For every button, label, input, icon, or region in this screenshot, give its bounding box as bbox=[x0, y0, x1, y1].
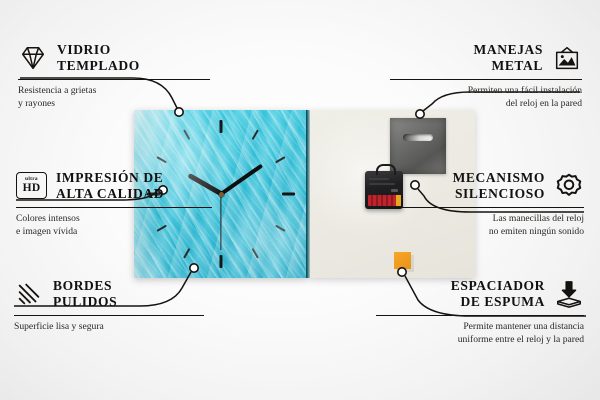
ultra-hd-icon: ultra HD bbox=[16, 172, 47, 199]
title-line-2: PULIDOS bbox=[53, 294, 117, 310]
clock-tick bbox=[183, 248, 190, 259]
movement-detail bbox=[369, 178, 389, 180]
feature-header: VIDRIO TEMPLADO bbox=[18, 42, 210, 74]
clock-tick bbox=[220, 255, 223, 268]
clock-tick bbox=[252, 129, 259, 140]
desc-line-2: y rayones bbox=[18, 98, 210, 111]
clock-minute-hand bbox=[220, 164, 263, 196]
hanger-slot bbox=[403, 134, 433, 141]
clock-tick bbox=[156, 156, 167, 163]
feature-title: IMPRESIÓN DE ALTA CALIDAD bbox=[56, 170, 164, 202]
title-line-2: METAL bbox=[474, 58, 543, 74]
hd-badge-large-text: HD bbox=[23, 183, 41, 195]
clock-tick bbox=[220, 120, 223, 133]
feature-divider bbox=[14, 315, 204, 316]
desc-line-2: uniforme entre el reloj y la pared bbox=[376, 334, 584, 347]
feature-manejas-metal: MANEJAS METAL Permiten una fácil instala… bbox=[390, 42, 582, 111]
title-line-1: VIDRIO bbox=[57, 42, 140, 58]
feature-divider bbox=[388, 207, 584, 208]
feature-description: Colores intensos e imagen vívida bbox=[16, 213, 212, 238]
feature-header: MANEJAS METAL bbox=[390, 42, 582, 74]
desc-line-1: Resistencia a grietas bbox=[18, 85, 210, 98]
feature-impresion-alta-calidad: ultra HD IMPRESIÓN DE ALTA CALIDAD Color… bbox=[16, 170, 212, 239]
feature-title: BORDES PULIDOS bbox=[53, 278, 117, 310]
feature-espaciador-espuma: ESPACIADOR DE ESPUMA Permite mantener un… bbox=[376, 278, 584, 347]
title-line-1: MANEJAS bbox=[474, 42, 543, 58]
feature-title: MANEJAS METAL bbox=[474, 42, 543, 74]
foam-spacer bbox=[394, 252, 411, 269]
feature-title: ESPACIADOR DE ESPUMA bbox=[451, 278, 545, 310]
desc-line-2: e imagen vívida bbox=[16, 226, 212, 239]
feature-vidrio-templado: VIDRIO TEMPLADO Resistencia a grietas y … bbox=[18, 42, 210, 111]
gear-icon bbox=[554, 171, 584, 201]
desc-line-1: Permiten una fácil instalación bbox=[390, 85, 582, 98]
polished-edges-icon bbox=[14, 279, 44, 309]
title-line-1: BORDES bbox=[53, 278, 117, 294]
feature-description: Las manecillas del reloj no emiten ningú… bbox=[388, 213, 584, 238]
feature-header: ESPACIADOR DE ESPUMA bbox=[376, 278, 584, 310]
feature-description: Resistencia a grietas y rayones bbox=[18, 85, 210, 110]
clock-second-hand bbox=[220, 194, 221, 250]
desc-line-1: Colores intensos bbox=[16, 213, 212, 226]
foam-spacer-icon bbox=[554, 279, 584, 309]
metal-hanger-plate bbox=[390, 118, 446, 174]
desc-line-1: Permite mantener una distancia bbox=[376, 321, 584, 334]
desc-line-2: del reloj en la pared bbox=[390, 98, 582, 111]
title-line-1: MECANISMO bbox=[453, 170, 545, 186]
picture-frame-icon bbox=[552, 43, 582, 73]
clock-tick bbox=[252, 248, 259, 259]
feature-divider bbox=[376, 315, 584, 316]
title-line-1: ESPACIADOR bbox=[451, 278, 545, 294]
desc-line-2: no emiten ningún sonido bbox=[388, 226, 584, 239]
clock-tick bbox=[275, 156, 286, 163]
diamond-icon bbox=[18, 43, 48, 73]
feature-title: MECANISMO SILENCIOSO bbox=[453, 170, 545, 202]
feature-divider bbox=[18, 79, 210, 80]
desc-line-1: Superficie lisa y segura bbox=[14, 321, 204, 334]
feature-mecanismo-silencioso: MECANISMO SILENCIOSO Las manecillas del … bbox=[388, 170, 584, 239]
feature-description: Superficie lisa y segura bbox=[14, 321, 204, 334]
clock-tick bbox=[183, 129, 190, 140]
title-line-2: DE ESPUMA bbox=[451, 294, 545, 310]
clock-tick bbox=[275, 225, 286, 232]
feature-divider bbox=[390, 79, 582, 80]
title-line-2: SILENCIOSO bbox=[453, 186, 545, 202]
title-line-1: IMPRESIÓN DE bbox=[56, 170, 164, 186]
feature-header: MECANISMO SILENCIOSO bbox=[388, 170, 584, 202]
feature-bordes-pulidos: BORDES PULIDOS Superficie lisa y segura bbox=[14, 278, 204, 334]
feature-header: ultra HD IMPRESIÓN DE ALTA CALIDAD bbox=[16, 170, 212, 202]
feature-header: BORDES PULIDOS bbox=[14, 278, 204, 310]
infographic-canvas: VIDRIO TEMPLADO Resistencia a grietas y … bbox=[0, 0, 600, 400]
clock-center-pin bbox=[219, 192, 224, 197]
feature-description: Permiten una fácil instalación del reloj… bbox=[390, 85, 582, 110]
desc-line-1: Las manecillas del reloj bbox=[388, 213, 584, 226]
feature-divider bbox=[16, 207, 212, 208]
feature-title: VIDRIO TEMPLADO bbox=[57, 42, 140, 74]
title-line-2: ALTA CALIDAD bbox=[56, 186, 164, 202]
title-line-2: TEMPLADO bbox=[57, 58, 140, 74]
clock-tick bbox=[282, 193, 295, 196]
feature-description: Permite mantener una distancia uniforme … bbox=[376, 321, 584, 346]
